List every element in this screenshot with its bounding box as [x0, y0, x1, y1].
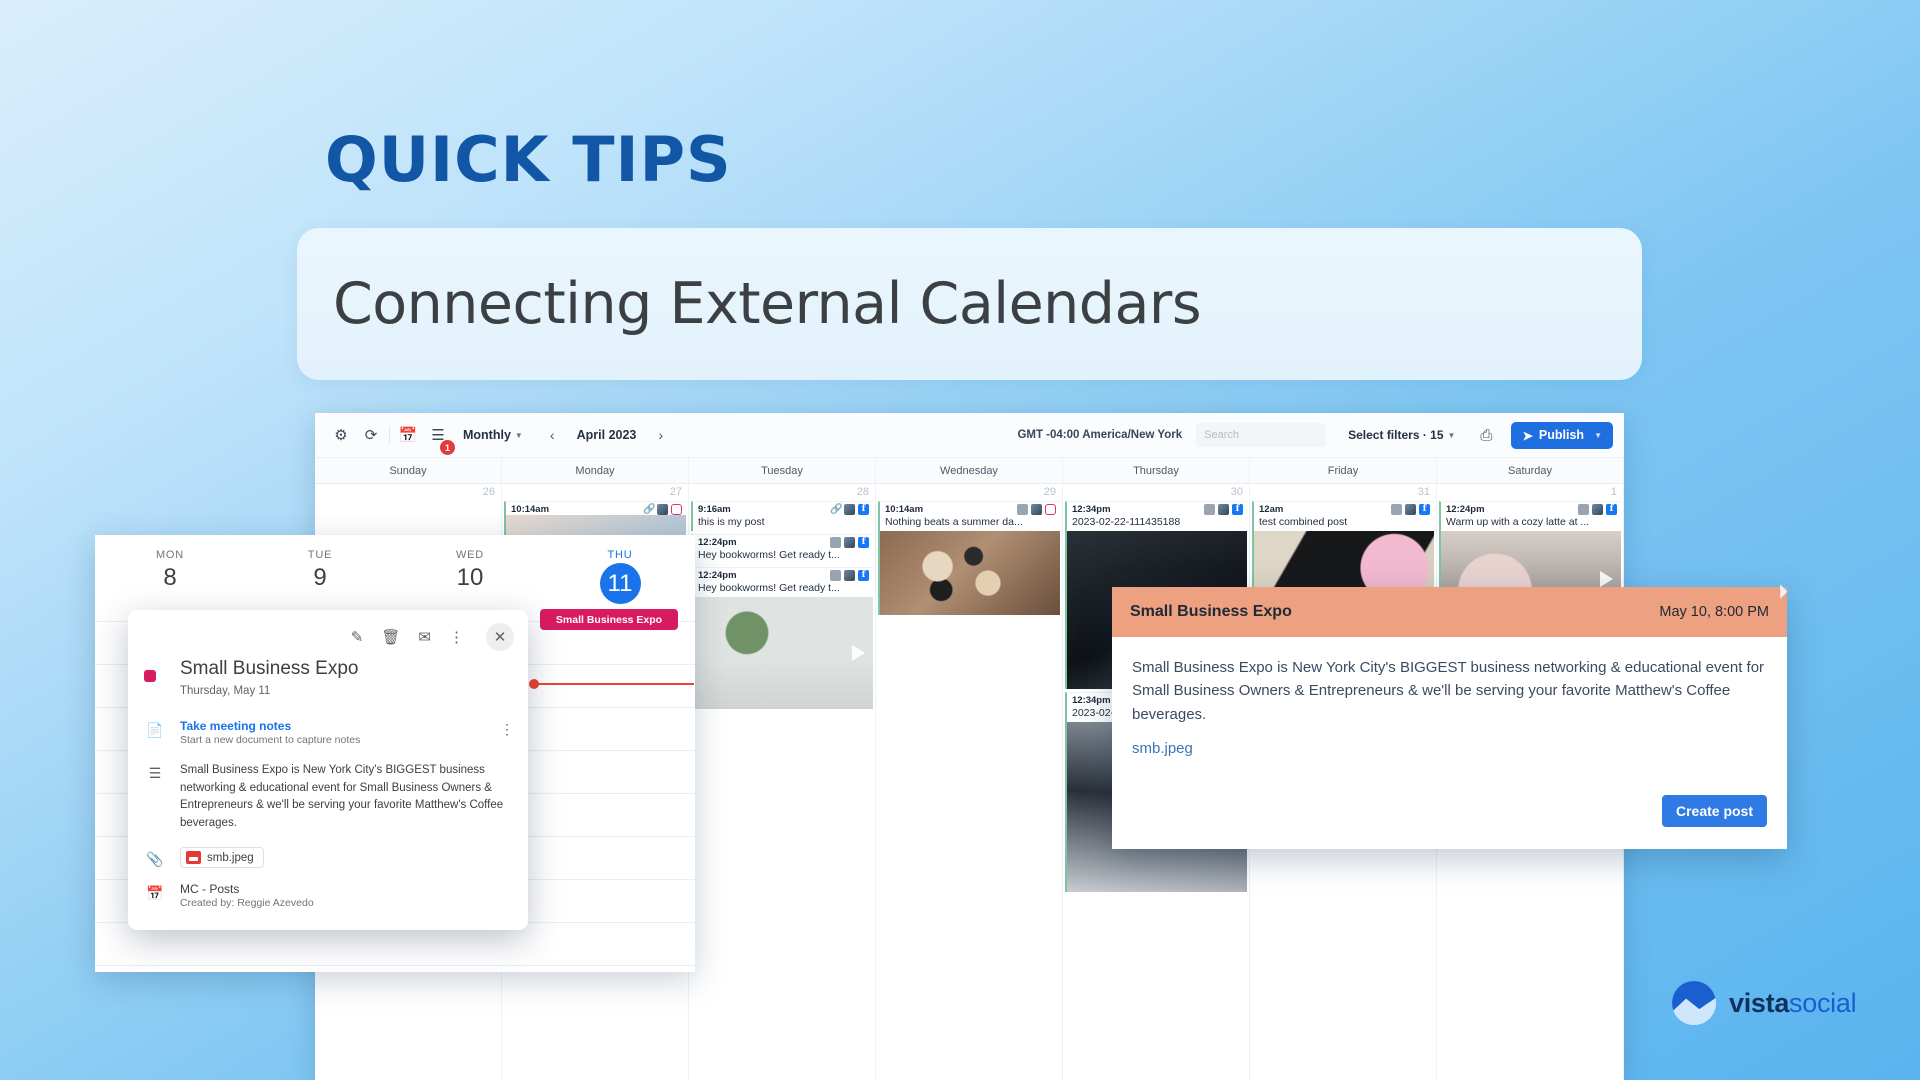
print-icon[interactable]: ⎙	[1471, 422, 1501, 448]
calendar-day-header-monday: Monday	[502, 458, 689, 483]
avatar-thumbnail-icon	[1405, 504, 1416, 515]
event-description-row: ☰ Small Business Expo is New York City's…	[142, 762, 514, 833]
avatar-thumbnail-icon	[844, 570, 855, 581]
list-view-badge: 1	[440, 440, 455, 455]
publish-label: Publish	[1539, 428, 1584, 442]
calendar-view-icon[interactable]: 📅	[393, 422, 423, 448]
calendar-name: MC - Posts	[180, 882, 314, 896]
create-post-button[interactable]: Create post	[1662, 795, 1767, 827]
instagram-icon	[1045, 504, 1056, 515]
calendar-icon: 📅	[144, 882, 166, 909]
gcal-day-name: TUE	[245, 549, 395, 561]
gcal-day-name: WED	[395, 549, 545, 561]
send-icon: ➤	[1522, 428, 1532, 443]
close-icon[interactable]: ✕	[486, 623, 514, 651]
post-text: Warm up with a cozy latte at ...	[1441, 515, 1621, 531]
avatar-thumbnail-icon	[1218, 504, 1229, 515]
calendar-day-headers: SundayMondayTuesdayWednesdayThursdayFrid…	[315, 458, 1624, 484]
calendar-day-number: 1	[1437, 484, 1623, 501]
event-title: Small Business Expo	[180, 658, 358, 681]
view-selector[interactable]: Monthly ▼	[463, 428, 523, 442]
calendar-day-number: 29	[876, 484, 1062, 501]
post-header: 10:14am	[880, 502, 1060, 515]
event-action-bar: ✎ 🗑 ✉ ⋮ ✕	[142, 620, 514, 654]
description-icon: ☰	[144, 762, 166, 833]
event-color-swatch	[144, 658, 166, 697]
post-time: 10:14am	[511, 504, 640, 515]
platform-icon	[1017, 504, 1028, 515]
vista-social-logo: vistasocial	[1672, 981, 1856, 1025]
post-time: 9:16am	[698, 504, 827, 515]
post-media-thumbnail[interactable]	[880, 531, 1060, 615]
list-view-icon[interactable]: ☰ 1	[423, 422, 453, 448]
post-text: this is my post	[693, 515, 873, 531]
post-header: 12amf	[1254, 502, 1434, 515]
calendar-column-tuesday[interactable]: 289:16am🔗fthis is my post12:24pmfHey boo…	[689, 484, 876, 1080]
calendar-day-header-friday: Friday	[1250, 458, 1437, 483]
calendar-day-number: 27	[502, 484, 688, 501]
platform-icon	[1578, 504, 1589, 515]
post-time: 12am	[1259, 504, 1388, 515]
facebook-icon: f	[1232, 504, 1243, 515]
prev-month-button[interactable]: ‹	[541, 427, 564, 443]
calendar-day-number: 26	[315, 484, 501, 501]
page-title: Connecting External Calendars	[297, 271, 1201, 337]
post-time: 12:24pm	[698, 570, 827, 581]
post-time: 12:24pm	[1446, 504, 1575, 515]
edit-icon[interactable]: ✎	[351, 630, 364, 645]
gcal-day-mon[interactable]: MON8	[95, 549, 245, 607]
platform-icon	[830, 537, 841, 548]
document-icon: 📄	[144, 719, 166, 746]
gcal-day-name: THU	[545, 549, 695, 561]
calendar-post[interactable]: 12:24pmfHey bookworms! Get ready t...	[691, 534, 873, 564]
brand-name-second: social	[1789, 988, 1856, 1018]
popup-attachment-link[interactable]: smb.jpeg	[1132, 740, 1767, 757]
chevron-down-icon: ▼	[515, 431, 523, 440]
gcal-time-row[interactable]	[95, 965, 695, 972]
platform-icon	[830, 570, 841, 581]
attachment-chip[interactable]: smb.jpeg	[180, 847, 264, 868]
post-header: 12:24pmf	[1441, 502, 1621, 515]
post-header: 12:24pmf	[693, 535, 873, 548]
platform-icon	[1204, 504, 1215, 515]
post-text: Hey bookworms! Get ready t...	[693, 581, 873, 597]
instagram-icon	[671, 504, 682, 515]
search-input[interactable]	[1196, 423, 1326, 447]
gear-icon[interactable]: ⚙	[326, 422, 356, 448]
calendar-day-header-sunday: Sunday	[315, 458, 502, 483]
event-creator: Created by: Reggie Azevedo	[180, 897, 314, 909]
email-icon[interactable]: ✉	[418, 630, 431, 645]
calendar-day-number: 28	[689, 484, 875, 501]
facebook-icon: f	[1606, 504, 1617, 515]
post-header: 10:14am🔗	[506, 502, 686, 515]
facebook-icon: f	[858, 504, 869, 515]
more-options-icon[interactable]: ⋮	[449, 630, 464, 645]
post-text: Hey bookworms! Get ready t...	[693, 548, 873, 564]
filters-dropdown[interactable]: Select filters · 15 ▼	[1348, 428, 1455, 442]
attachment-filename: smb.jpeg	[207, 852, 254, 864]
calendar-day-number: 31	[1250, 484, 1436, 501]
calendar-toolbar: ⚙ ⟳ 📅 ☰ 1 Monthly ▼ ‹ April 2023 › GMT -…	[315, 413, 1624, 458]
popup-body: Small Business Expo is New York City's B…	[1112, 637, 1787, 757]
chevron-down-icon: ▼	[1448, 431, 1456, 440]
avatar-thumbnail-icon	[1031, 504, 1042, 515]
link-icon: 🔗	[830, 504, 841, 515]
vista-social-mark-icon	[1672, 981, 1716, 1025]
avatar-thumbnail-icon	[844, 504, 855, 515]
next-month-button[interactable]: ›	[650, 427, 673, 443]
event-calendar-row: 📅 MC - Posts Created by: Reggie Azevedo	[142, 882, 514, 909]
post-header: 12:24pmf	[693, 568, 873, 581]
calendar-day-header-tuesday: Tuesday	[689, 458, 876, 483]
quick-tips-kicker: QUICK TIPS	[325, 123, 732, 196]
gcal-day-thu[interactable]: THU11	[545, 549, 695, 607]
image-file-icon	[186, 851, 201, 864]
current-month-label: April 2023	[564, 428, 650, 442]
popup-description: Small Business Expo is New York City's B…	[1132, 656, 1767, 726]
link-icon: 🔗	[643, 504, 654, 515]
timezone-label: GMT -04:00 America/New York	[1017, 429, 1182, 441]
avatar-thumbnail-icon	[657, 504, 668, 515]
publish-button[interactable]: ➤ Publish ▼	[1511, 422, 1613, 449]
google-event-detail-card: ✎ 🗑 ✉ ⋮ ✕ Small Business Expo Thursday, …	[128, 610, 528, 930]
calendar-post[interactable]: 9:16am🔗fthis is my post	[691, 501, 873, 531]
event-attachment-row: 📎 smb.jpeg	[142, 847, 514, 868]
google-calendar-day-headers: MON8TUE9WED10THU11	[95, 535, 695, 607]
post-time: 10:14am	[885, 504, 1014, 515]
title-card: Connecting External Calendars	[297, 228, 1642, 380]
post-header: 12:34pmf	[1067, 502, 1247, 515]
post-time: 12:24pm	[698, 537, 827, 548]
post-time: 12:34pm	[1072, 504, 1201, 515]
popup-header: Small Business Expo May 10, 8:00 PM	[1112, 587, 1787, 637]
take-meeting-notes-link[interactable]: Take meeting notes	[180, 719, 486, 733]
chevron-down-icon: ▼	[1594, 431, 1602, 440]
gcal-day-tue[interactable]: TUE9	[245, 549, 395, 607]
delete-icon[interactable]: 🗑	[381, 630, 400, 645]
refresh-icon[interactable]: ⟳	[356, 422, 386, 448]
meeting-notes-subtitle: Start a new document to capture notes	[180, 734, 486, 746]
calendar-post[interactable]: 10:14amNothing beats a summer da...	[878, 501, 1060, 615]
event-date: Thursday, May 11	[180, 685, 358, 697]
gcal-day-number: 11	[600, 563, 641, 604]
post-text: 2023-02-22-111435188	[1067, 515, 1247, 531]
calendar-post[interactable]: 12:24pmfHey bookworms! Get ready t...	[691, 567, 873, 709]
gcal-day-name: MON	[95, 549, 245, 561]
post-media-thumbnail[interactable]	[693, 597, 873, 709]
play-icon[interactable]	[1600, 571, 1613, 587]
event-description: Small Business Expo is New York City's B…	[180, 762, 514, 833]
gcal-day-number: 9	[245, 564, 395, 592]
play-icon[interactable]	[852, 645, 865, 661]
brand-wordmark: vistasocial	[1729, 988, 1856, 1019]
brand-name-first: vista	[1729, 988, 1789, 1018]
google-event-chip[interactable]: Small Business Expo	[540, 609, 678, 630]
toolbar-divider	[389, 426, 390, 444]
facebook-icon: f	[858, 570, 869, 581]
post-header: 9:16am🔗f	[693, 502, 873, 515]
facebook-icon: f	[858, 537, 869, 548]
popup-date: May 10, 8:00 PM	[1659, 604, 1769, 620]
popup-title: Small Business Expo	[1130, 603, 1292, 621]
post-text: Nothing beats a summer da...	[880, 515, 1060, 531]
calendar-day-number: 30	[1063, 484, 1249, 501]
avatar-thumbnail-icon	[844, 537, 855, 548]
facebook-icon: f	[1419, 504, 1430, 515]
platform-icon	[1391, 504, 1402, 515]
calendar-day-header-thursday: Thursday	[1063, 458, 1250, 483]
more-options-icon[interactable]: ⋮	[500, 719, 514, 746]
calendar-column-wednesday[interactable]: 2910:14amNothing beats a summer da...	[876, 484, 1063, 1080]
current-time-indicator	[534, 683, 694, 685]
gcal-day-wed[interactable]: WED10	[395, 549, 545, 607]
avatar-thumbnail-icon	[1592, 504, 1603, 515]
filters-label: Select filters · 15	[1348, 428, 1443, 442]
event-title-row: Small Business Expo Thursday, May 11	[142, 658, 514, 697]
post-text: test combined post	[1254, 515, 1434, 531]
gcal-day-number: 8	[95, 564, 245, 592]
vista-create-post-popup: ◢ Small Business Expo May 10, 8:00 PM Sm…	[1112, 587, 1787, 849]
meeting-notes-row[interactable]: 📄 Take meeting notes Start a new documen…	[142, 719, 514, 746]
gcal-day-number: 10	[395, 564, 545, 592]
view-selector-label: Monthly	[463, 428, 511, 442]
paperclip-icon: 📎	[144, 848, 166, 868]
calendar-day-header-wednesday: Wednesday	[876, 458, 1063, 483]
calendar-day-header-saturday: Saturday	[1437, 458, 1624, 483]
